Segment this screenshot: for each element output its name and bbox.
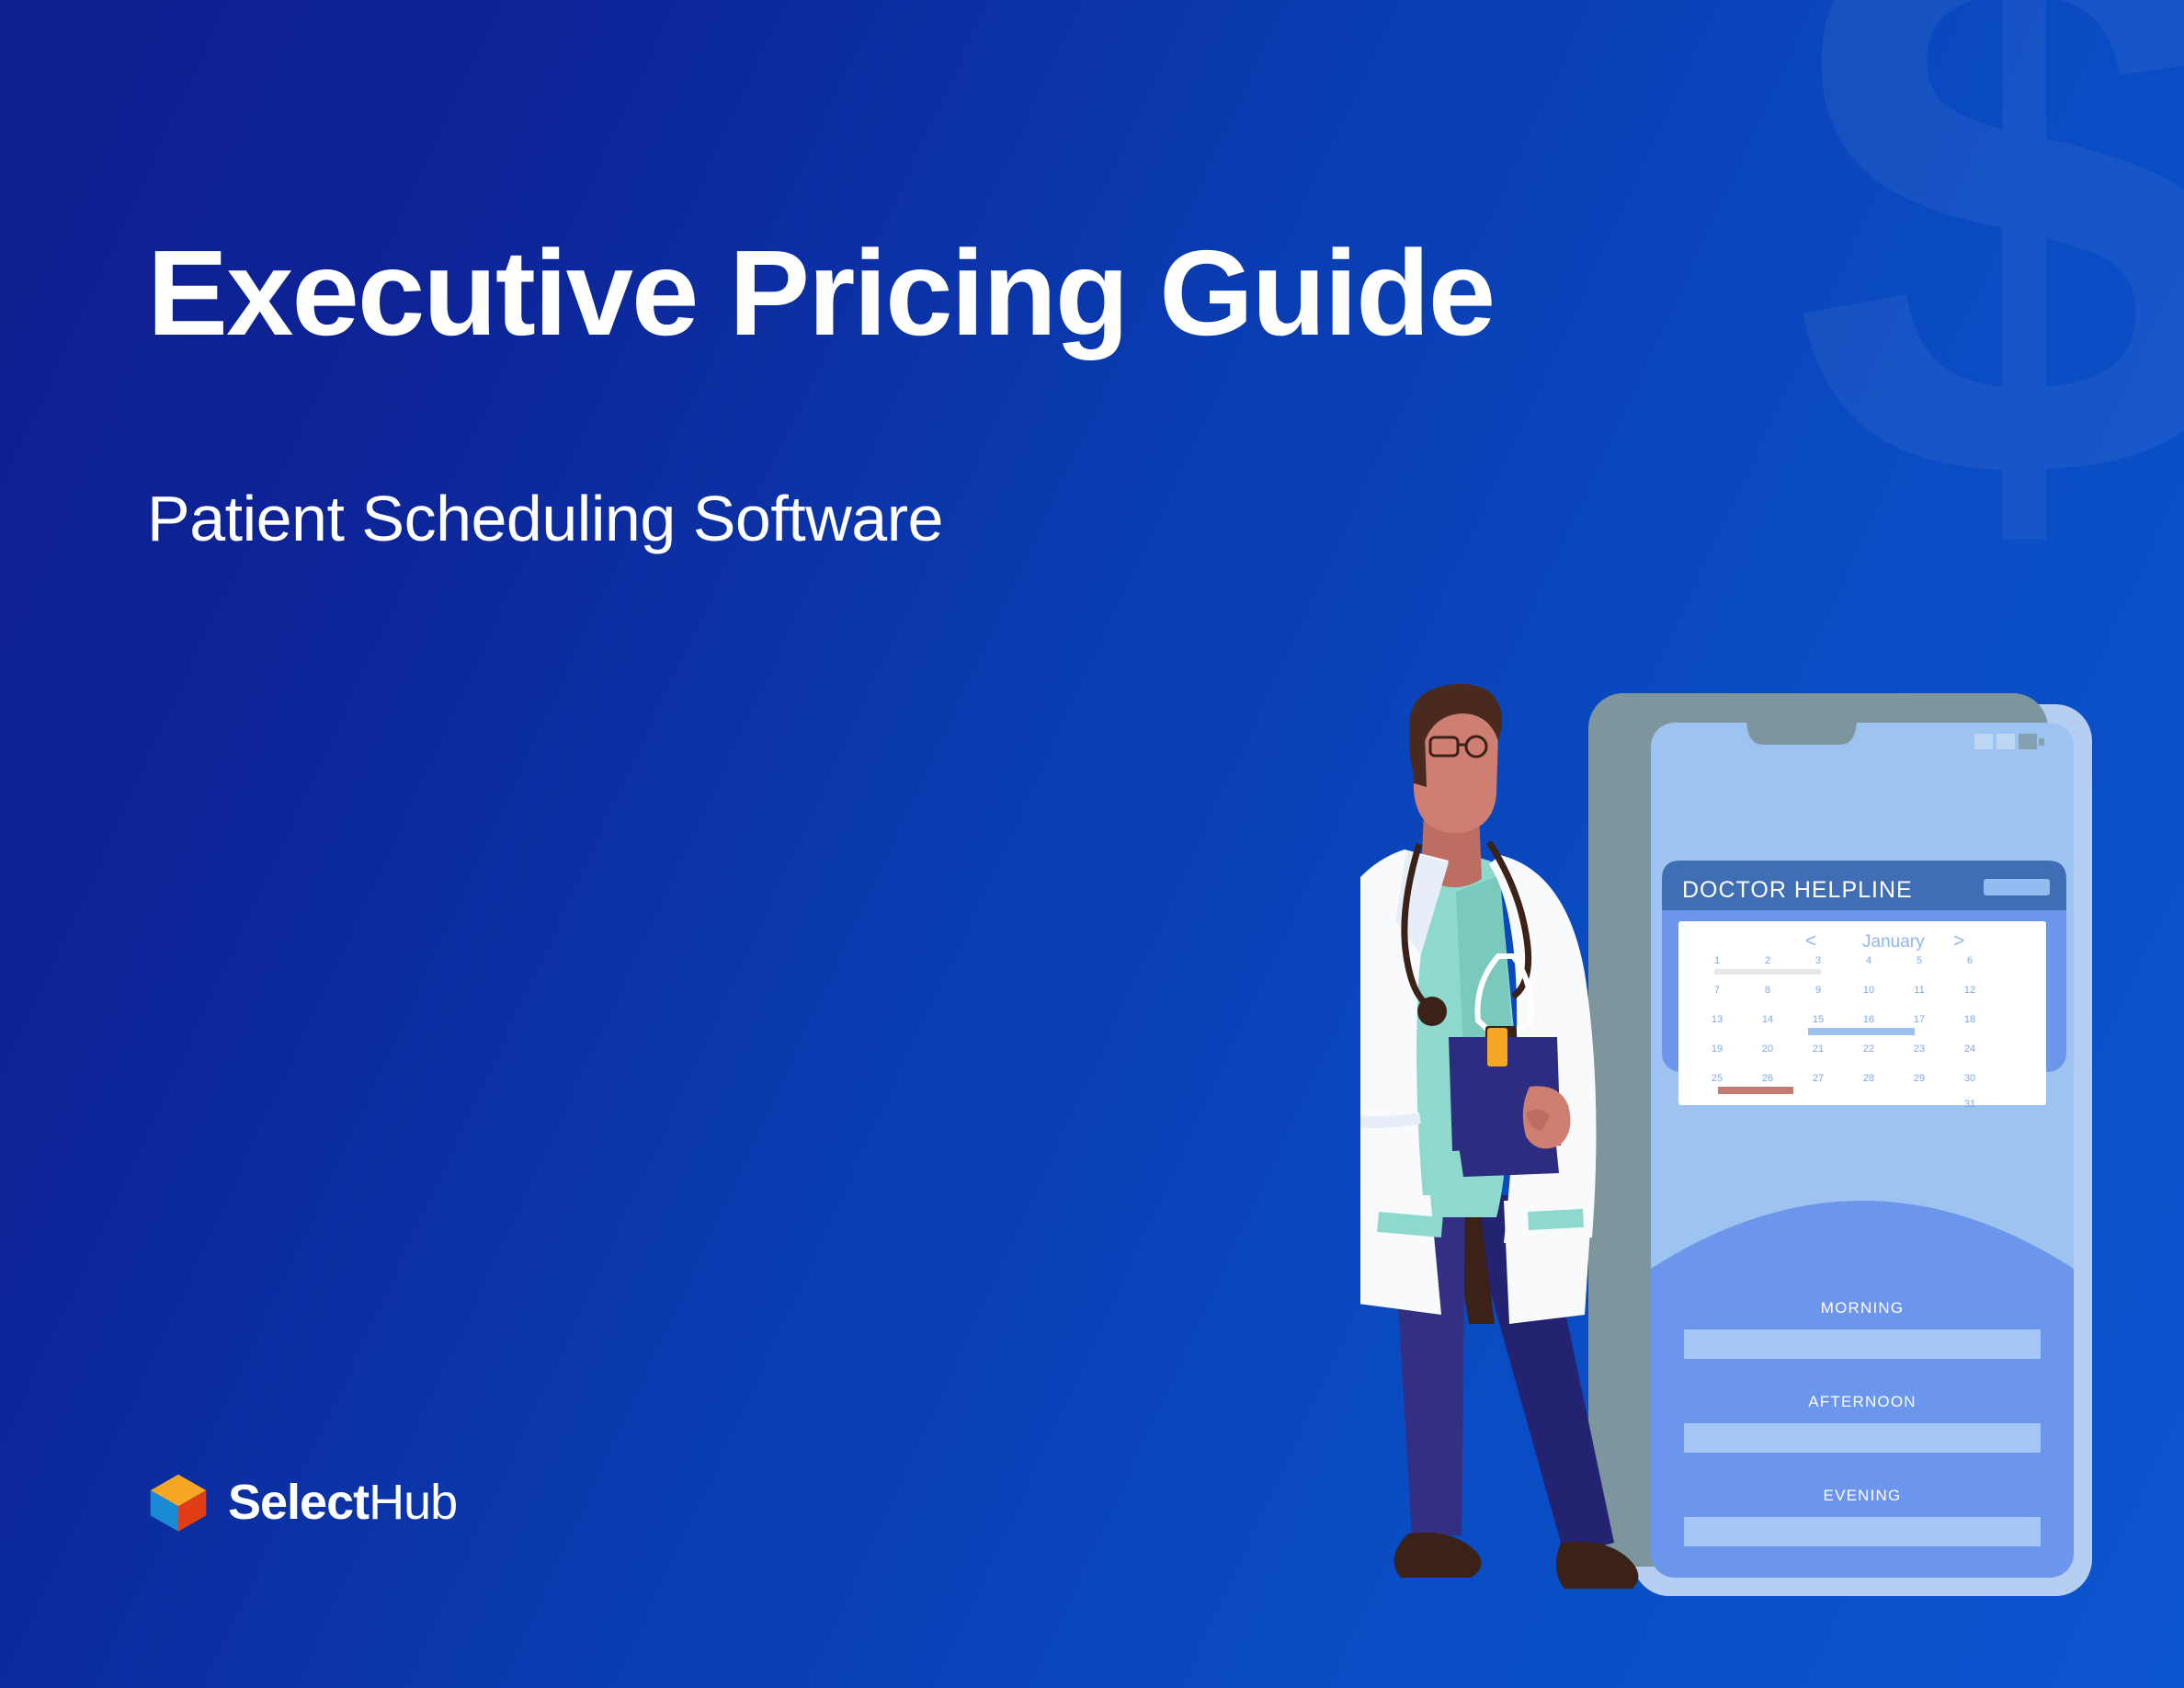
calendar-date[interactable]: 4: [1866, 955, 1871, 966]
calendar-date[interactable]: 31: [1964, 1099, 1975, 1110]
cover-page: $ Executive Pricing Guide Patient Schedu…: [0, 0, 2184, 1688]
calendar-date[interactable]: 28: [1863, 1073, 1874, 1084]
phone-notch: [1746, 723, 1857, 745]
calendar-date[interactable]: 18: [1964, 1014, 1975, 1025]
calendar-prev-arrow[interactable]: <: [1805, 930, 1816, 952]
app-header-title: DOCTOR HELPLINE: [1682, 877, 1913, 903]
calendar-date[interactable]: 29: [1914, 1073, 1925, 1084]
calendar-date[interactable]: 8: [1765, 985, 1770, 996]
slot-label-afternoon: AFTERNOON: [1808, 1393, 1917, 1410]
calendar-date[interactable]: 3: [1815, 955, 1821, 966]
calendar-date[interactable]: 7: [1714, 985, 1720, 996]
clipboard-clip: [1487, 1028, 1507, 1066]
page-subtitle: Patient Scheduling Software: [147, 482, 1894, 555]
calendar-date[interactable]: 30: [1964, 1073, 1975, 1084]
battery-icon: [1974, 734, 2044, 749]
calendar-date[interactable]: 25: [1712, 1073, 1723, 1084]
slot-bar-morning[interactable]: [1684, 1329, 2041, 1359]
doctor-coat-tail-left: [1360, 1195, 1441, 1315]
calendar-event-bar-blue: [1808, 1028, 1915, 1035]
calendar-date[interactable]: 5: [1917, 955, 1922, 966]
brand-wordmark: SelectHub: [228, 1474, 457, 1531]
slot-bar-evening[interactable]: [1684, 1517, 2041, 1546]
calendar-date[interactable]: 13: [1712, 1014, 1723, 1025]
calendar-date[interactable]: 14: [1762, 1014, 1773, 1025]
doctor-front-shoe: [1394, 1533, 1482, 1578]
calendar-date[interactable]: 17: [1914, 1014, 1925, 1025]
title-block: Executive Pricing Guide Patient Scheduli…: [147, 230, 1894, 555]
calendar-date[interactable]: 20: [1762, 1044, 1773, 1055]
slot-bar-afternoon[interactable]: [1684, 1423, 2041, 1453]
calendar-date[interactable]: 1: [1714, 955, 1720, 966]
page-title: Executive Pricing Guide: [147, 230, 1894, 358]
app-header-pill[interactable]: [1984, 879, 2050, 895]
slot-label-morning: MORNING: [1821, 1299, 1905, 1317]
calendar-date[interactable]: 26: [1762, 1073, 1773, 1084]
calendar-date[interactable]: 27: [1813, 1073, 1824, 1084]
doctor-coat-cuff-right: [1528, 1209, 1584, 1230]
calendar-date[interactable]: 19: [1712, 1044, 1723, 1055]
calendar-event-bar-grey: [1714, 969, 1821, 975]
slot-label-evening: EVENING: [1824, 1487, 1902, 1504]
calendar-date[interactable]: 12: [1964, 985, 1975, 996]
brand-name-light: Hub: [369, 1475, 457, 1530]
calendar-date[interactable]: 22: [1863, 1044, 1874, 1055]
doctor-phone-illustration: DOCTOR HELPLINE < January > 1 2 3 4: [1360, 680, 2184, 1688]
brand-name-bold: Select: [228, 1475, 369, 1530]
calendar-date[interactable]: 15: [1813, 1014, 1824, 1025]
calendar-date[interactable]: 9: [1815, 985, 1821, 996]
calendar-date[interactable]: 23: [1914, 1044, 1925, 1055]
calendar-month-label: January: [1862, 932, 1925, 952]
calendar-next-arrow[interactable]: >: [1953, 930, 1964, 952]
stethoscope-bell: [1417, 997, 1447, 1026]
calendar-date[interactable]: 2: [1765, 955, 1770, 966]
calendar-date[interactable]: 24: [1964, 1044, 1975, 1055]
brand-logo[interactable]: SelectHub: [145, 1469, 457, 1535]
calendar-date[interactable]: 16: [1863, 1014, 1874, 1025]
calendar-date[interactable]: 10: [1863, 985, 1874, 996]
selecthub-cube-icon: [145, 1469, 211, 1535]
calendar-date[interactable]: 11: [1914, 985, 1924, 996]
calendar-date[interactable]: 6: [1967, 955, 1973, 966]
calendar-event-bar-red: [1718, 1087, 1793, 1094]
doctor-sideburn: [1412, 734, 1427, 787]
calendar-date[interactable]: 21: [1813, 1044, 1824, 1055]
